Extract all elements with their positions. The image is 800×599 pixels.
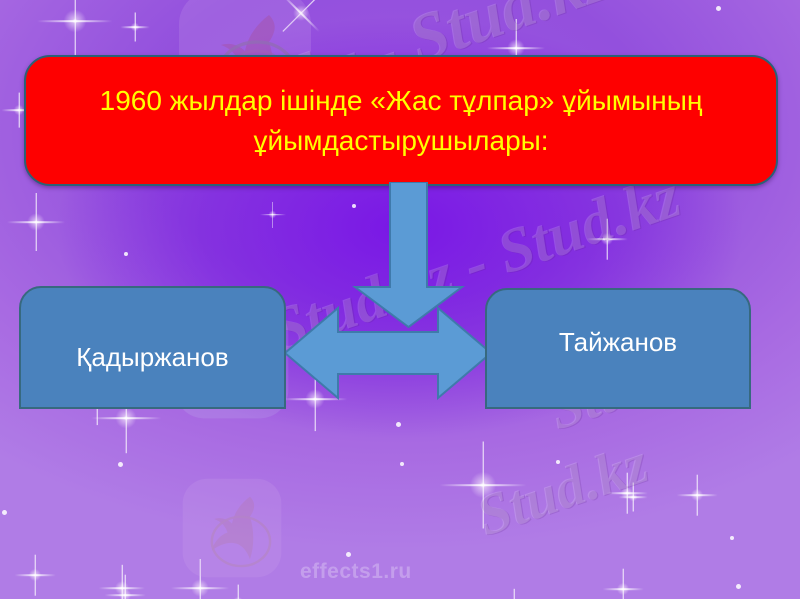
node-box-left[interactable]: Қадыржанов [19,286,286,409]
watermark-effects1ru: effects1.ru [300,560,412,584]
title-text: 1960 жылдар ішінде «Жас тұлпар» ұйымының… [26,81,776,161]
node-box-right[interactable]: Тайжанов [485,288,751,409]
hummingbird-logo-icon-bottom [176,472,288,584]
title-banner: 1960 жылдар ішінде «Жас тұлпар» ұйымының… [24,55,778,186]
down-arrow-icon [330,182,490,332]
left-right-double-arrow-icon [282,300,494,412]
node-label-left: Қадыржанов [66,342,238,373]
slide-canvas: Stud.kz - Stud.kz Stud.kz - Stud.kz Stud… [0,0,800,599]
node-label-right: Тайжанов [549,327,687,358]
watermark-diagonal-bottom: Stud.kz [468,429,656,550]
